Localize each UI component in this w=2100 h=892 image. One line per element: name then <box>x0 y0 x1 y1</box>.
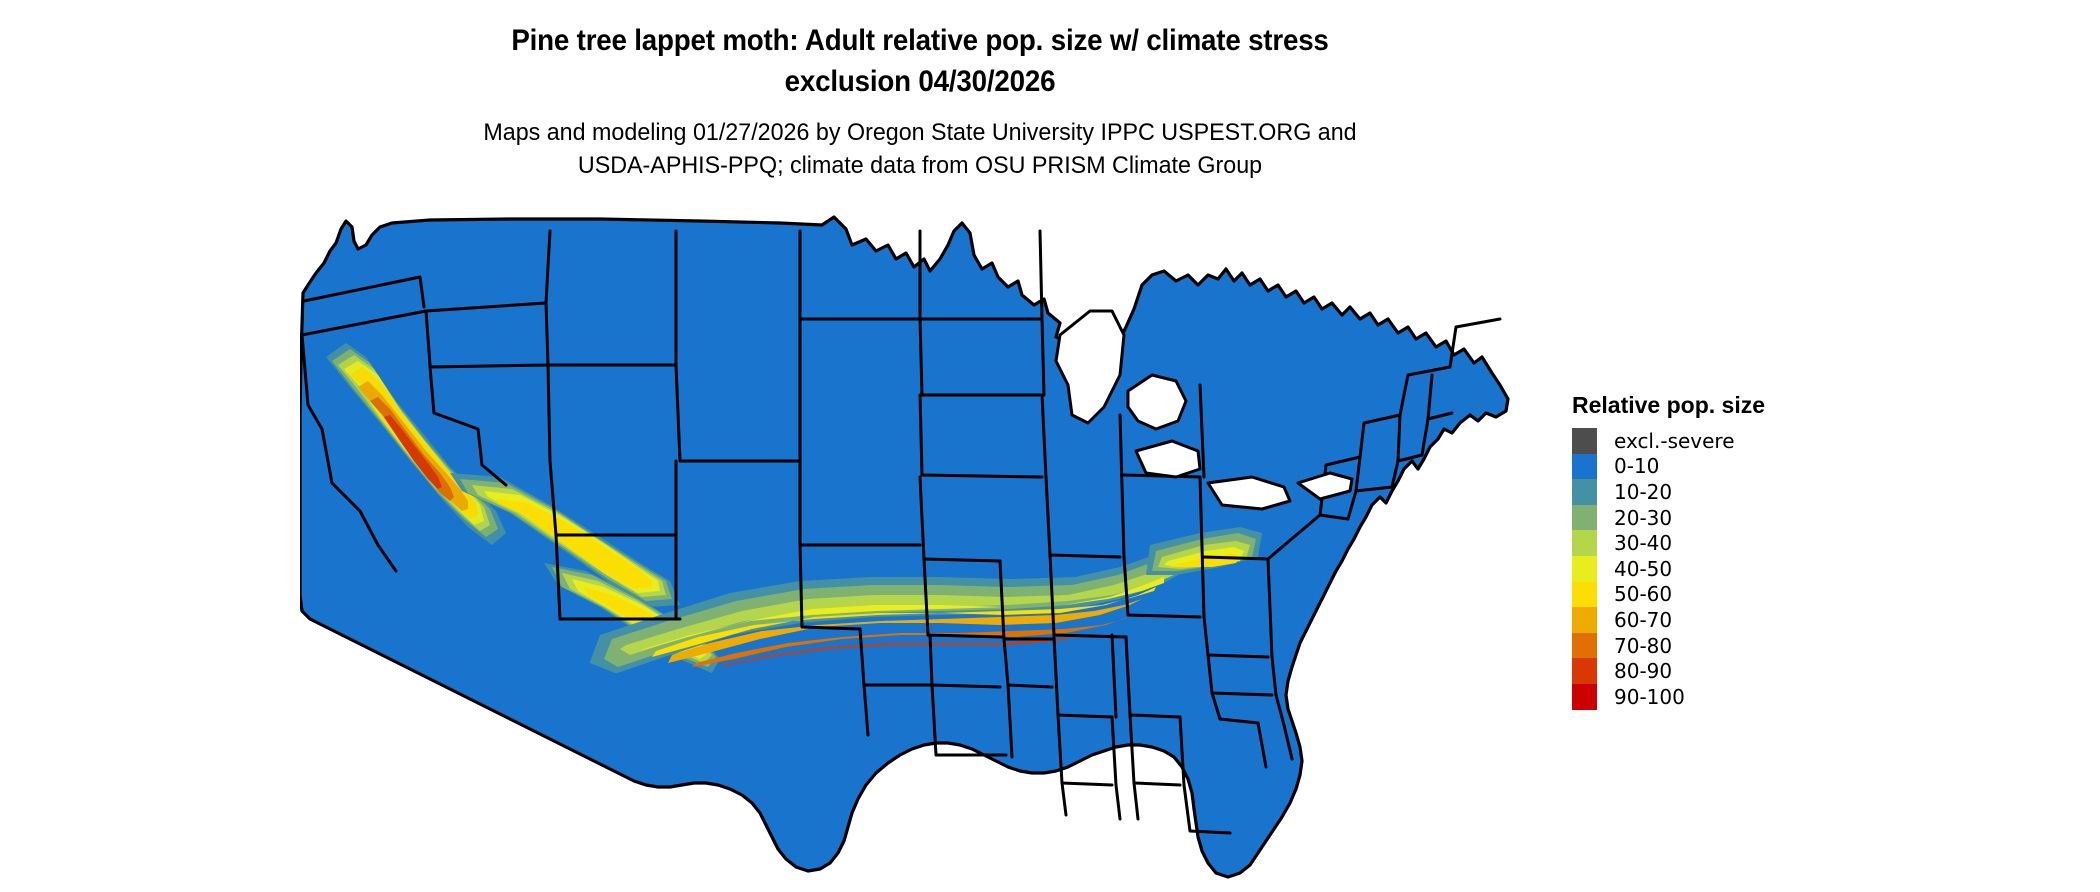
legend-item-label: 0-10 <box>1614 456 1659 476</box>
page-title: Pine tree lappet moth: Adult relative po… <box>55 20 1785 102</box>
legend-color-swatch <box>1572 505 1597 531</box>
legend-item: 0-10 <box>1572 454 1765 480</box>
legend-item-label: 20-30 <box>1614 508 1672 528</box>
legend-item-label: 40-50 <box>1614 559 1672 579</box>
legend-color-swatch <box>1572 633 1597 659</box>
legend-item: excl.-severe <box>1572 428 1765 454</box>
legend-color-swatch <box>1572 454 1597 480</box>
legend-item-label: 30-40 <box>1614 533 1672 553</box>
legend-item-label: 70-80 <box>1614 636 1672 656</box>
legend-color-swatch <box>1572 530 1597 556</box>
legend-item: 50-60 <box>1572 582 1765 608</box>
legend-item-label: 50-60 <box>1614 584 1672 604</box>
us-map-svg <box>300 215 1550 880</box>
legend-color-swatch <box>1572 607 1597 633</box>
legend-item: 20-30 <box>1572 505 1765 531</box>
legend-item: 80-90 <box>1572 658 1765 684</box>
legend: Relative pop. size excl.-severe0-1010-20… <box>1572 392 1765 710</box>
legend-color-swatch <box>1572 684 1597 710</box>
legend-item: 90-100 <box>1572 684 1765 710</box>
legend-items: excl.-severe0-1010-2020-3030-4040-5050-6… <box>1572 428 1765 710</box>
legend-color-swatch <box>1572 556 1597 582</box>
us-map <box>300 215 1550 880</box>
legend-color-swatch <box>1572 582 1597 608</box>
legend-item-label: 90-100 <box>1614 687 1685 707</box>
legend-color-swatch <box>1572 428 1597 454</box>
legend-item-label: excl.-severe <box>1614 431 1735 451</box>
legend-item: 70-80 <box>1572 633 1765 659</box>
page-subtitle: Maps and modeling 01/27/2026 by Oregon S… <box>46 116 1794 182</box>
legend-item-label: 60-70 <box>1614 610 1672 630</box>
legend-item: 40-50 <box>1572 556 1765 582</box>
legend-title: Relative pop. size <box>1572 392 1765 419</box>
legend-item: 10-20 <box>1572 479 1765 505</box>
legend-item-label: 10-20 <box>1614 482 1672 502</box>
legend-color-swatch <box>1572 479 1597 505</box>
legend-item: 60-70 <box>1572 607 1765 633</box>
legend-item: 30-40 <box>1572 530 1765 556</box>
map-page: Pine tree lappet moth: Adult relative po… <box>0 0 2100 892</box>
legend-color-swatch <box>1572 658 1597 684</box>
legend-item-label: 80-90 <box>1614 661 1672 681</box>
title-block: Pine tree lappet moth: Adult relative po… <box>0 20 1840 182</box>
